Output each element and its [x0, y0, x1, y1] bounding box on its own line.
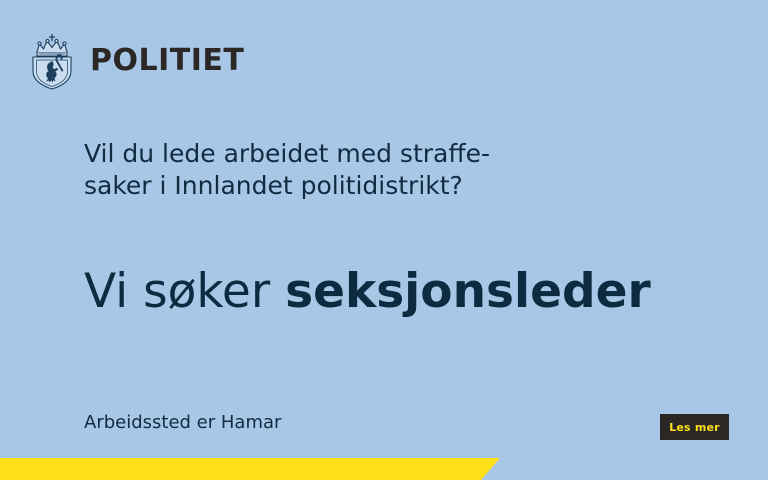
work-location-text: Arbeidssted er Hamar [84, 412, 281, 433]
headline-emphasis: seksjonsleder [285, 264, 651, 319]
les-mer-button-label: Les mer [669, 422, 720, 433]
kicker-headline: Vil du lede arbeidet med straffe- saker … [84, 138, 644, 202]
norwegian-coat-of-arms-shield-icon [26, 32, 78, 90]
headline-lead: Vi søker [84, 264, 285, 319]
kicker-line-2: saker i Innlandet politidistrikt? [84, 170, 644, 202]
kicker-line-1: Vil du lede arbeidet med straffe- [84, 138, 644, 170]
politiet-brand-lockup: POLITIET [26, 32, 244, 90]
main-headline: Vi søker seksjonsleder [84, 266, 651, 318]
politiet-wordmark: POLITIET [90, 46, 244, 76]
les-mer-button[interactable]: Les mer [660, 414, 729, 440]
yellow-accent-stripe [0, 458, 500, 480]
recruitment-banner: POLITIET Vil du lede arbeidet med straff… [0, 0, 768, 480]
